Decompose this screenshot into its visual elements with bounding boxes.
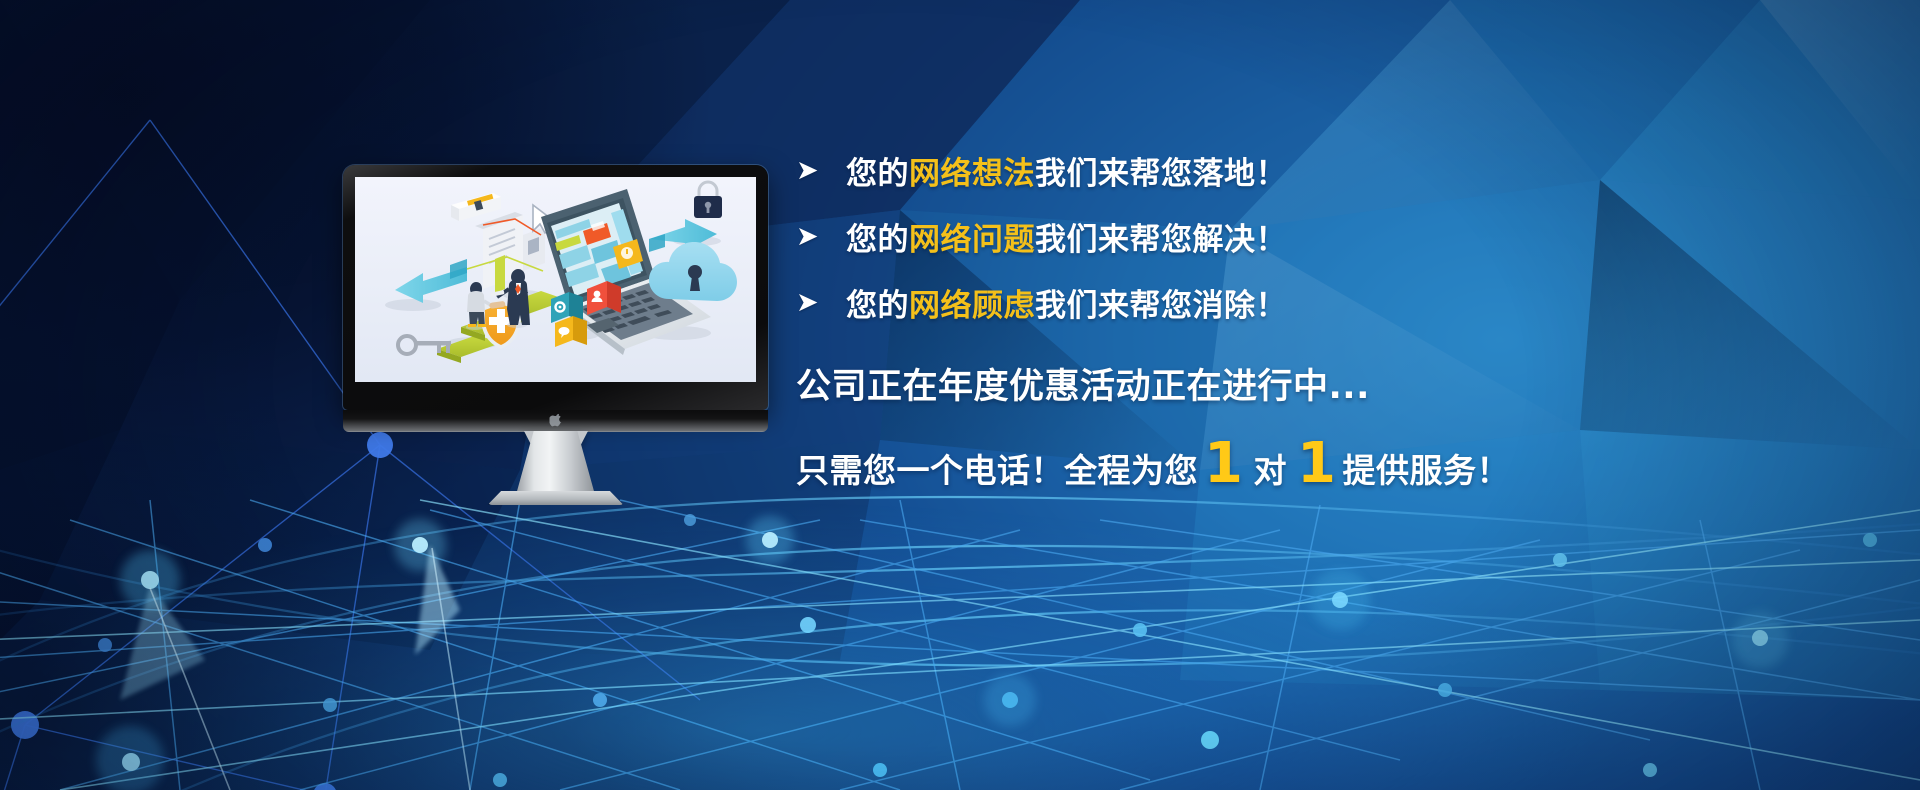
monitor-base: [488, 491, 624, 505]
bullet-text-3: 您的网络顾虑我们来帮您消除！: [846, 280, 1287, 325]
cta-middle: 对: [1253, 444, 1287, 492]
cta-line: 只需您一个电话！全程为您 1 对 1 提供服务！: [796, 439, 1556, 492]
bullet-3-highlight: 网络顾虑: [909, 288, 1035, 324]
bullet-3-pre: 您的: [846, 288, 909, 324]
monitor-screen: [355, 177, 756, 382]
promo-line: 公司正在年度优惠活动正在进行中...: [796, 358, 1556, 409]
bullet-2-pre: 您的: [846, 222, 909, 258]
bullet-text-1: 您的网络想法我们来帮您落地！: [846, 148, 1287, 193]
arrow-bullet-icon: ➤: [796, 223, 830, 250]
desktop-monitor: [343, 165, 768, 475]
cta-tail: 提供服务！: [1342, 444, 1510, 492]
bullet-1-highlight: 网络想法: [909, 156, 1035, 192]
cta-number-second: 1: [1297, 439, 1336, 489]
cta-lead: 只需您一个电话！全程为您: [796, 444, 1198, 492]
bullet-2-post: 我们来帮您解决！: [1035, 222, 1287, 258]
cta-number-first: 1: [1204, 439, 1243, 489]
bullet-2-highlight: 网络问题: [909, 222, 1035, 258]
bullet-line-3: ➤ 您的网络顾虑我们来帮您消除！: [796, 282, 1556, 322]
isometric-network-illustration: [355, 177, 756, 382]
arrow-bullet-icon: ➤: [796, 289, 830, 316]
apple-logo-icon: [549, 413, 562, 428]
bullet-text-2: 您的网络问题我们来帮您解决！: [846, 214, 1287, 259]
bullet-3-post: 我们来帮您消除！: [1035, 288, 1287, 324]
bullet-line-1: ➤ 您的网络想法我们来帮您落地！: [796, 150, 1556, 190]
monitor-bezel: [343, 165, 768, 410]
bullet-line-2: ➤ 您的网络问题我们来帮您解决！: [796, 216, 1556, 256]
arrow-bullet-icon: ➤: [796, 157, 830, 184]
bullet-1-post: 我们来帮您落地！: [1035, 156, 1287, 192]
promo-banner: ➤ 您的网络想法我们来帮您落地！ ➤ 您的网络问题我们来帮您解决！ ➤ 您的网络…: [0, 0, 1920, 790]
bullet-1-pre: 您的: [846, 156, 909, 192]
banner-copy: ➤ 您的网络想法我们来帮您落地！ ➤ 您的网络问题我们来帮您解决！ ➤ 您的网络…: [796, 150, 1556, 492]
